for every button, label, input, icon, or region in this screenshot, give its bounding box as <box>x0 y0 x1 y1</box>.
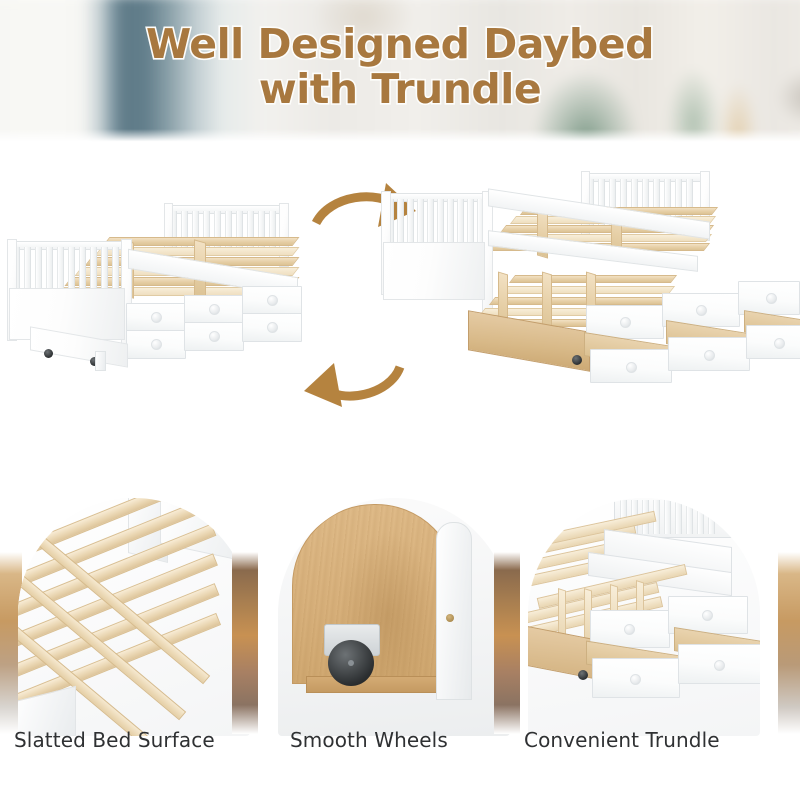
trundle-open-knob-3[interactable] <box>774 338 785 349</box>
divider-bar-right <box>778 552 800 734</box>
trundle-knob-1[interactable] <box>620 317 631 328</box>
main-product-area <box>0 145 800 490</box>
title-line-1: Well Designed Daybed <box>146 20 654 68</box>
transform-arrow-left-head <box>304 363 342 407</box>
feature-caption-3: Convenient Trundle <box>524 728 720 752</box>
drawer-knob-1[interactable] <box>151 312 162 323</box>
feature-image-slatted-bed-surface <box>18 498 250 736</box>
trundle-wood-panel <box>292 504 458 684</box>
header-banner: Well Designed Daybed with Trundle <box>0 0 800 145</box>
trundle-open-knob-1[interactable] <box>626 362 637 373</box>
feature-caption-1: Slatted Bed Surface <box>14 728 215 752</box>
feature-image-smooth-wheels <box>278 498 510 736</box>
drawer-bank <box>126 277 302 357</box>
drawer-knob-6[interactable] <box>267 322 278 333</box>
bed-post-white <box>436 522 472 700</box>
right-bed-trundle-extended <box>370 145 800 455</box>
divider-bar-1 <box>232 552 258 734</box>
caster-wheel-left <box>44 349 53 358</box>
trundle-caster-wheel <box>572 355 582 365</box>
drawer-knob-4[interactable] <box>151 339 162 350</box>
drawer-knob-5[interactable] <box>209 331 220 342</box>
drawer-knob-2[interactable] <box>209 304 220 315</box>
panel3-knob-2[interactable] <box>702 610 713 621</box>
trundle-open-knob-2[interactable] <box>704 350 715 361</box>
trundle-unit <box>468 257 798 437</box>
post-screw-hole <box>446 614 454 622</box>
trundle-knob-2[interactable] <box>696 305 707 316</box>
title-line-2: with Trundle <box>0 67 800 112</box>
divider-bar-2 <box>494 552 520 734</box>
panel3-open-knob-2[interactable] <box>714 660 725 671</box>
r-near-footboard-spindles <box>385 199 487 243</box>
trundle-knob-3[interactable] <box>766 293 777 304</box>
product-infographic: Well Designed Daybed with Trundle <box>0 0 800 800</box>
panel3-knob-1[interactable] <box>624 624 635 635</box>
trundle-panel-wheel <box>578 670 588 680</box>
slat-photo <box>18 498 250 736</box>
near-footboard-spindles <box>11 247 125 289</box>
bed-leg-front <box>95 351 106 371</box>
panel3-open-knob-1[interactable] <box>630 674 641 685</box>
header-fade <box>0 129 800 145</box>
feature-caption-2: Smooth Wheels <box>290 728 448 752</box>
caster-axle-pin <box>348 660 354 666</box>
drawer-knob-3[interactable] <box>267 295 278 306</box>
feature-image-convenient-trundle <box>528 498 760 736</box>
feature-panels: Slatted Bed Surface Smooth Wheels <box>0 490 800 800</box>
trundle-drawer-open-3[interactable] <box>746 325 800 359</box>
left-bed-closed <box>0 145 340 445</box>
page-title: Well Designed Daybed with Trundle <box>0 22 800 112</box>
